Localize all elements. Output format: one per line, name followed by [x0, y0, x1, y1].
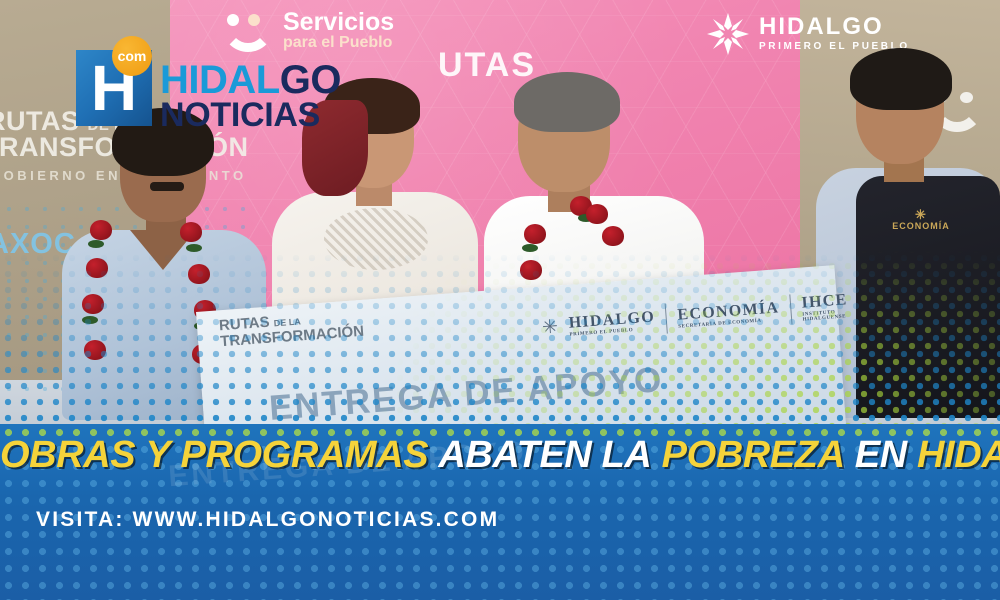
news-photo-card: RUTAS de la TRANSFORMACIÓN GOBIERNO EN M…: [0, 0, 1000, 600]
check-logo-ihce-sub: INSTITUTO HIDALGUENSE: [802, 309, 850, 322]
servicios-subtitle: para el Pueblo: [283, 35, 394, 52]
eight-point-star-icon: [706, 12, 750, 56]
servicios-para-el-pueblo-logo: Servicios para el Pueblo: [222, 10, 394, 52]
headline: OBRAS Y PROGRAMAS ABATEN LA POBREZA EN H…: [0, 434, 1000, 477]
economia-emblem-label: ECONOMÍA: [892, 221, 950, 231]
headline-word-7: HIDALGO: [917, 434, 1000, 477]
star-icon: ✳: [886, 208, 956, 221]
check-logo-ihce-text: IHCE: [801, 291, 848, 311]
check-logo-ihce: IHCE INSTITUTO HIDALGUENSE: [801, 291, 850, 322]
check-logo-row: ✳ HIDALGO PRIMERO EL PUEBLO ECONOMÍA SEC…: [541, 290, 850, 342]
check-rutas-heading: RUTAS de la TRANSFORMACIÓN: [219, 308, 365, 350]
headline-word-0: OBRAS: [0, 434, 135, 477]
hidalgo-government-logo: HIDALGO PRIMERO EL PUEBLO: [706, 12, 910, 56]
star-icon-check: ✳: [541, 315, 559, 339]
watermark-brand-line1: HIDALGO: [160, 60, 341, 100]
watermark-com-badge: com: [112, 36, 152, 76]
hidalgo-logo-title: HIDALGO: [759, 15, 910, 39]
servicios-title: Servicios: [283, 10, 394, 35]
headline-word-5: POBREZA: [662, 434, 845, 477]
watermark-brand-line2: NOTICIAS: [160, 98, 320, 132]
economia-vest-emblem: ✳ ECONOMÍA: [886, 208, 956, 231]
check-logo-economia: ECONOMÍA SECRETARÍA DE ECONOMÍA: [677, 299, 780, 329]
check-main-text: ENTREGA DE APOYO: [268, 360, 665, 429]
headline-word-2: PROGRAMAS: [181, 434, 429, 477]
headline-word-1: Y: [145, 434, 170, 477]
smiley-face-icon: [222, 10, 274, 52]
person-man-dark-vest: ✳ ECONOMÍA: [816, 58, 1000, 418]
headline-word-6: EN: [855, 434, 907, 477]
headline-word-3: ABATEN: [438, 434, 591, 477]
headline-word-4: LA: [602, 434, 652, 477]
website-visit-line: VISITA: WWW.HIDALGONOTICIAS.COM: [36, 508, 499, 532]
check-logo-hidalgo: HIDALGO PRIMERO EL PUEBLO: [568, 308, 656, 337]
